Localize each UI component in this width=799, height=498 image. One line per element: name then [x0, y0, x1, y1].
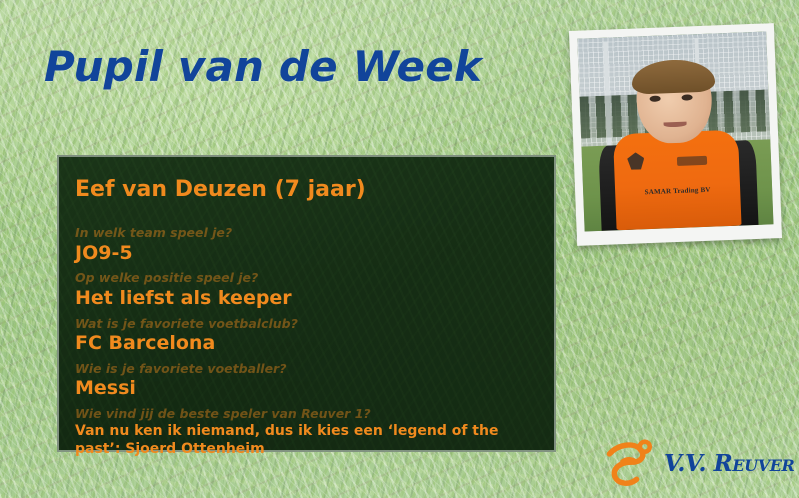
pupil-photo-frame: SAMAR Trading BV: [569, 23, 782, 246]
qa-answer: Messi: [75, 378, 534, 400]
qa-question: Wie is je favoriete voetballer?: [75, 362, 534, 376]
qa-answer: Het liefst als keeper: [75, 288, 534, 310]
qa-block: In welk team speel je?JO9-5: [75, 226, 534, 264]
qa-answer: JO9-5: [75, 243, 534, 265]
qa-question: In welk team speel je?: [75, 226, 534, 240]
running-player-swoosh-icon: [604, 434, 662, 492]
photo-eye: [649, 95, 661, 101]
profile-panel: Eef van Deuzen (7 jaar) In welk team spe…: [57, 155, 556, 452]
qa-block: Wat is je favoriete voetbalclub?FC Barce…: [75, 317, 534, 355]
qa-answer: FC Barcelona: [75, 333, 534, 355]
pupil-name: Eef van Deuzen (7 jaar): [75, 178, 534, 202]
qa-block: Wie is je favoriete voetballer?Messi: [75, 362, 534, 400]
qa-block: Op welke positie speel je?Het liefst als…: [75, 271, 534, 309]
club-logo: V.V. Reuver: [604, 433, 794, 493]
poster-canvas: Pupil van de Week SAMAR Trading BV Eef v…: [0, 0, 799, 498]
photo-jersey: [613, 129, 741, 230]
qa-question: Wie vind jij de beste speler van Reuver …: [75, 407, 534, 421]
qa-block: Wie vind jij de beste speler van Reuver …: [75, 407, 534, 458]
qa-question: Op welke positie speel je?: [75, 271, 534, 285]
club-name-text: V.V. Reuver: [664, 450, 794, 477]
question-answer-list: In welk team speel je?JO9-5Op welke posi…: [75, 226, 534, 458]
photo-eye: [682, 94, 694, 100]
jersey-brand-icon: [676, 155, 707, 166]
page-title: Pupil van de Week: [44, 46, 482, 88]
qa-question: Wat is je favoriete voetbalclub?: [75, 317, 534, 331]
qa-answer: Van nu ken ik niemand, dus ik kies een ‘…: [75, 423, 534, 458]
pupil-photo: SAMAR Trading BV: [577, 31, 773, 231]
